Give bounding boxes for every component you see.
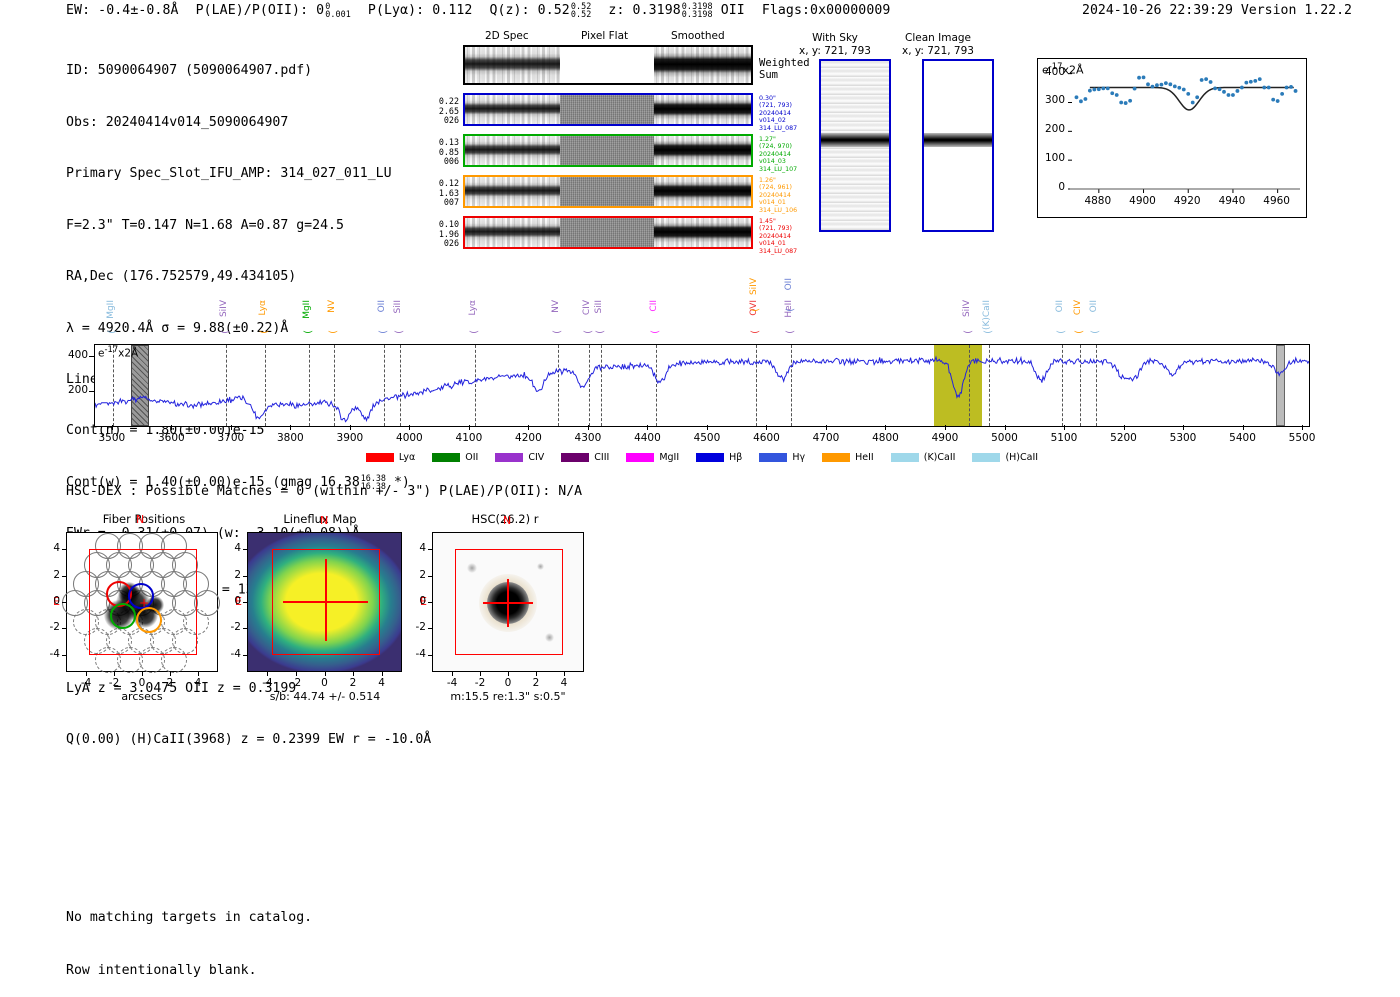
emission-line-label: Lyα bbox=[259, 300, 268, 315]
emission-line-brace: ( bbox=[328, 330, 339, 334]
panel-y-tick: 0 bbox=[217, 595, 241, 607]
panel-y-tick: 2 bbox=[402, 569, 426, 581]
panel-x-tick: 4 bbox=[368, 677, 396, 689]
fiber-left-stats: 0.130.85006 bbox=[419, 138, 459, 167]
fiber-center-cross: + bbox=[139, 596, 149, 610]
lineflux-crosshair-horizontal bbox=[283, 601, 368, 603]
fiber-strip: 0.130.850061.27"(724, 970)20240414v014_0… bbox=[463, 134, 753, 167]
info-primary-slot: Primary Spec_Slot_IFU_AMP: 314_027_011_L… bbox=[66, 165, 431, 182]
emission-line-brace: ( bbox=[785, 330, 796, 334]
fiber-smoothed bbox=[654, 95, 751, 124]
panel-x-tick: 0 bbox=[128, 677, 156, 689]
fiber-left-stats: 0.101.96026 bbox=[419, 220, 459, 249]
hsc-dex-header: HSC-DEX : Possible Matches = 0 (within +… bbox=[66, 484, 582, 499]
fiber-2dspec bbox=[465, 136, 560, 165]
spectrum-x-tick: 3900 bbox=[326, 432, 374, 444]
fiber-left-stats: 0.121.63007 bbox=[419, 179, 459, 208]
legend-label: Lyα bbox=[399, 452, 415, 463]
legend-item: OII bbox=[432, 452, 478, 463]
spectrum-y-tickmark bbox=[89, 391, 94, 392]
fiber-smoothed bbox=[654, 177, 751, 206]
panel-x-tick: 0 bbox=[494, 677, 522, 689]
panel-y-tickmark bbox=[428, 549, 432, 550]
emission-line-label: NV bbox=[552, 300, 561, 313]
fiber-strip: 0.121.630071.26"(724, 961)20240414v014_0… bbox=[463, 175, 753, 208]
panel-y-tick: 4 bbox=[402, 542, 426, 554]
legend-item: Lyα bbox=[366, 452, 415, 463]
spectrum-x-tick: 4900 bbox=[921, 432, 969, 444]
legend-swatch bbox=[495, 453, 523, 462]
info-id: ID: 5090064907 (5090064907.pdf) bbox=[66, 62, 431, 79]
legend-label: (H)CaII bbox=[1005, 452, 1038, 463]
emission-line-label: SiIV bbox=[750, 278, 759, 295]
panel-y-tick: -4 bbox=[217, 648, 241, 660]
emission-line-brace: ( bbox=[259, 330, 270, 334]
panel-y-tick: 2 bbox=[217, 569, 241, 581]
info-radec: RA,Dec (176.752579,49.434105) bbox=[66, 268, 431, 285]
fiber-strip: 0.101.960261.45"(721, 793)20240414v014_0… bbox=[463, 216, 753, 249]
panel-x-tickmark bbox=[353, 672, 354, 676]
legend-swatch bbox=[626, 453, 654, 462]
panel-y-tickmark bbox=[428, 602, 432, 603]
inset-x-tick: 4900 bbox=[1127, 195, 1159, 207]
emission-line-brace: ( bbox=[1074, 330, 1085, 334]
spectrum-x-tick: 4000 bbox=[385, 432, 433, 444]
panel-x-tick: -4 bbox=[438, 677, 466, 689]
spectrum-x-tick: 4200 bbox=[504, 432, 552, 444]
full-spectrum-chart: e-17x2Å bbox=[94, 344, 1310, 427]
panel-y-tickmark bbox=[428, 655, 432, 656]
panel-x-tick: -4 bbox=[72, 677, 100, 689]
legend-label: HeII bbox=[855, 452, 874, 463]
spectrum-x-tick: 3600 bbox=[147, 432, 195, 444]
panel-x-tick: 2 bbox=[522, 677, 550, 689]
legend-item: Hβ bbox=[696, 452, 742, 463]
panel-y-tickmark bbox=[243, 576, 247, 577]
spectrum-x-tick: 4400 bbox=[623, 432, 671, 444]
emission-line-label: MgII bbox=[107, 300, 116, 319]
legend-swatch bbox=[366, 453, 394, 462]
spectrum-x-tick: 4800 bbox=[861, 432, 909, 444]
lineflux-map-plot: N E bbox=[247, 532, 402, 672]
emission-line-label: CII bbox=[650, 300, 659, 312]
panel-y-tick: -4 bbox=[36, 648, 60, 660]
weighted-sum-label: WeightedSum bbox=[759, 57, 810, 81]
legend-item: (H)CaII bbox=[972, 452, 1038, 463]
emission-line-label: SiII bbox=[595, 300, 604, 314]
spectrum-x-tick: 4700 bbox=[802, 432, 850, 444]
fiber-pixelflat bbox=[560, 95, 655, 124]
emission-line-brace: ( bbox=[983, 330, 994, 334]
header-qz: Q(z): 0.520.520.52 bbox=[489, 3, 591, 18]
panel-y-tickmark bbox=[243, 549, 247, 550]
spectrum-x-tick: 5500 bbox=[1278, 432, 1326, 444]
emission-line-brace: ( bbox=[963, 330, 974, 334]
panel-x-tick: 4 bbox=[550, 677, 578, 689]
spectrum-x-tick: 5300 bbox=[1159, 432, 1207, 444]
fiber-2dspec bbox=[465, 177, 560, 206]
legend-label: (K)CaII bbox=[924, 452, 956, 463]
header-redshift: z: 0.31980.31980.3198 OII bbox=[608, 3, 744, 18]
spectrum-y-tick: 200 bbox=[50, 384, 88, 396]
emission-line-brace: ( bbox=[394, 330, 405, 334]
emission-line-label: SiIV bbox=[220, 300, 229, 317]
panel-y-tick: -4 bbox=[402, 648, 426, 660]
panel-y-tickmark bbox=[62, 602, 66, 603]
emission-line-brace: ( bbox=[650, 330, 661, 334]
inset-x-tick: 4880 bbox=[1082, 195, 1114, 207]
spectrum-x-tick: 5000 bbox=[981, 432, 1029, 444]
fiber-positions-caption: arcsecs bbox=[42, 690, 242, 703]
hsc-image-caption: m:15.5 re:1.3" s:0.5" bbox=[408, 690, 608, 703]
panel-x-tickmark bbox=[198, 672, 199, 676]
emission-line-label: OII bbox=[1056, 300, 1065, 312]
inset-y-tick: 300 bbox=[1027, 94, 1065, 106]
panel-x-tickmark bbox=[296, 672, 297, 676]
fiber-meta: 1.26"(724, 961)20240414v014_01314_LU_106 bbox=[759, 177, 797, 214]
emission-line-brace: ( bbox=[552, 330, 563, 334]
emission-line-brace: ( bbox=[107, 330, 118, 334]
panel-x-tickmark bbox=[480, 672, 481, 676]
inset-y-tick: 400 bbox=[1027, 66, 1065, 78]
emission-line-label: OII bbox=[785, 278, 794, 290]
inset-y-tick: 100 bbox=[1027, 152, 1065, 164]
weighted-sum-smoothed bbox=[654, 47, 751, 83]
lineflux-north-label: N bbox=[320, 514, 328, 527]
weighted-sum-2dspec bbox=[465, 47, 560, 83]
legend-swatch bbox=[891, 453, 919, 462]
panel-x-tickmark bbox=[142, 672, 143, 676]
panel-y-tickmark bbox=[243, 602, 247, 603]
fiber-pixelflat bbox=[560, 177, 655, 206]
clean-image-cutout bbox=[922, 59, 994, 232]
header-plya: P(Lyα): 0.112 bbox=[368, 3, 473, 18]
inset-plot-svg bbox=[1038, 59, 1306, 217]
inset-x-tick: 4960 bbox=[1261, 195, 1293, 207]
fiber-smoothed bbox=[654, 218, 751, 247]
panel-x-tickmark bbox=[325, 672, 326, 676]
emission-line-label: Lyα bbox=[469, 300, 478, 315]
legend-item: CIII bbox=[561, 452, 609, 463]
fiber-pixelflat bbox=[560, 218, 655, 247]
panel-x-tickmark bbox=[536, 672, 537, 676]
panel-x-tickmark bbox=[267, 672, 268, 676]
panel-y-tick: 4 bbox=[36, 542, 60, 554]
panel-x-tick: 4 bbox=[184, 677, 212, 689]
inset-x-tick: 4940 bbox=[1216, 195, 1248, 207]
clean-image-title: Clean Image x, y: 721, 793 bbox=[878, 32, 998, 57]
panel-y-tickmark bbox=[243, 628, 247, 629]
panel-y-tick: 0 bbox=[36, 595, 60, 607]
emission-line-brace: ( bbox=[583, 330, 594, 334]
panel-x-tickmark bbox=[564, 672, 565, 676]
weighted-sum-pixelflat bbox=[560, 47, 655, 83]
spectrum-x-tick: 5200 bbox=[1100, 432, 1148, 444]
hsc-north-label: N bbox=[503, 514, 511, 527]
emission-line-brace: ( bbox=[750, 308, 761, 312]
legend-item: MgII bbox=[626, 452, 679, 463]
spectrum-x-tick: 4100 bbox=[445, 432, 493, 444]
emission-line-brace: ( bbox=[750, 330, 761, 334]
info-obs: Obs: 20240414v014_5090064907 bbox=[66, 114, 431, 131]
info-seeing: F=2.3" T=0.147 N=1.68 A=0.87 g=24.5 bbox=[66, 217, 431, 234]
emission-line-label: MgII bbox=[303, 300, 312, 319]
emission-line-brace: ( bbox=[469, 330, 480, 334]
header-plae: P(LAE)/P(OII): 000.001 bbox=[196, 3, 351, 18]
panel-y-tickmark bbox=[62, 549, 66, 550]
fiber-smoothed bbox=[654, 136, 751, 165]
legend-item: Hγ bbox=[759, 452, 805, 463]
panel-y-tickmark bbox=[428, 576, 432, 577]
spec2d-column-titles: 2D Spec Pixel Flat Smoothed bbox=[463, 30, 753, 45]
header-ew: EW: -0.4±-0.8Å bbox=[66, 3, 179, 18]
panel-x-tick: 2 bbox=[156, 677, 184, 689]
emission-line-brace: ( bbox=[595, 330, 606, 334]
legend-item: (K)CaII bbox=[891, 452, 956, 463]
panel-x-tickmark bbox=[452, 672, 453, 676]
inset-y-tick: 200 bbox=[1027, 123, 1065, 135]
fiber-left-stats: 0.222.65026 bbox=[419, 97, 459, 126]
fiber-pixelflat bbox=[560, 136, 655, 165]
legend-swatch bbox=[972, 453, 1000, 462]
spectrum-x-tick: 5100 bbox=[1040, 432, 1088, 444]
lineflux-map-caption: s/b: 44.74 +/- 0.514 bbox=[225, 690, 425, 703]
panel-y-tick: -2 bbox=[36, 621, 60, 633]
legend-item: HeII bbox=[822, 452, 874, 463]
inset-x-tick: 4920 bbox=[1171, 195, 1203, 207]
panel-y-tickmark bbox=[62, 628, 66, 629]
emission-line-label: SiIV bbox=[963, 300, 972, 317]
legend-label: OII bbox=[465, 452, 478, 463]
weighted-sum-strip: WeightedSum bbox=[463, 45, 753, 85]
emission-line-brace: ( bbox=[378, 330, 389, 334]
spec2d-title-smoothed: Smoothed bbox=[671, 30, 725, 42]
spectrum-x-tick: 5400 bbox=[1219, 432, 1267, 444]
spec2d-title-pixelflat: Pixel Flat bbox=[581, 30, 628, 42]
panel-y-tickmark bbox=[243, 655, 247, 656]
panel-x-tick: -2 bbox=[466, 677, 494, 689]
clean-image-trace bbox=[924, 133, 992, 147]
emission-line-label: NV bbox=[328, 300, 337, 313]
with-sky-cutout bbox=[819, 59, 891, 232]
hsc-crosshair-horizontal bbox=[483, 602, 533, 604]
spectrum-y-tickmark bbox=[89, 356, 94, 357]
legend-swatch bbox=[696, 453, 724, 462]
emission-line-label: SiII bbox=[394, 300, 403, 314]
emission-line-label: OII bbox=[1090, 300, 1099, 312]
inset-y-tick: 0 bbox=[1027, 181, 1065, 193]
spectrum-flux-annotation: e-17x2Å bbox=[98, 344, 138, 360]
info-lambda: λ = 4920.4Å σ = 9.88(±0.22)Å bbox=[66, 320, 431, 337]
panel-x-tick: 0 bbox=[311, 677, 339, 689]
legend-label: MgII bbox=[659, 452, 679, 463]
legend-label: CIV bbox=[528, 452, 544, 463]
emission-line-label: CIV bbox=[1074, 300, 1083, 315]
header-flags: Flags:0x00000009 bbox=[762, 3, 891, 18]
footer-line-2: Row intentionally blank. bbox=[66, 962, 312, 980]
legend-swatch bbox=[432, 453, 460, 462]
fiber-2dspec bbox=[465, 95, 560, 124]
panel-x-tickmark bbox=[382, 672, 383, 676]
legend-swatch bbox=[561, 453, 589, 462]
panel-y-tick: 0 bbox=[402, 595, 426, 607]
legend-label: Hβ bbox=[729, 452, 742, 463]
emission-line-brace: ( bbox=[303, 330, 314, 334]
panel-y-tick: 4 bbox=[217, 542, 241, 554]
spectrum-x-tick: 3500 bbox=[88, 432, 136, 444]
fiber-north-label: N bbox=[136, 513, 144, 526]
panel-x-tickmark bbox=[508, 672, 509, 676]
panel-y-tick: -2 bbox=[217, 621, 241, 633]
panel-y-tickmark bbox=[428, 628, 432, 629]
legend-label: CIII bbox=[594, 452, 609, 463]
panel-x-tickmark bbox=[170, 672, 171, 676]
fiber-meta: 0.30"(721, 793)20240414v014_02314_LU_087 bbox=[759, 95, 797, 132]
panel-x-tickmark bbox=[86, 672, 87, 676]
two-d-spectra-panel: 2D Spec Pixel Flat Smoothed WeightedSum … bbox=[463, 30, 753, 249]
footer-note: No matching targets in catalog. Row inte… bbox=[66, 874, 312, 997]
panel-x-tick: -2 bbox=[282, 677, 310, 689]
spectrum-y-tick: 400 bbox=[50, 349, 88, 361]
with-sky-trace bbox=[821, 133, 889, 147]
panel-x-tick: 2 bbox=[339, 677, 367, 689]
panel-y-tick: 2 bbox=[36, 569, 60, 581]
emission-line-brace: ( bbox=[785, 308, 796, 312]
fiber-positions-plot: N E + bbox=[66, 532, 218, 672]
panel-x-tick: -2 bbox=[100, 677, 128, 689]
legend-item: CIV bbox=[495, 452, 544, 463]
spectrum-x-tick: 3700 bbox=[207, 432, 255, 444]
spectrum-x-tick: 3800 bbox=[266, 432, 314, 444]
panel-y-tick: -2 bbox=[402, 621, 426, 633]
panel-x-tickmark bbox=[114, 672, 115, 676]
lineflux-crosshair-vertical bbox=[325, 559, 327, 641]
line-fit-inset-chart: e-17x2Å bbox=[1037, 58, 1307, 218]
fiber-meta: 1.45"(721, 793)20240414v014_01314_LU_087 bbox=[759, 218, 797, 255]
timestamp-version: 2024-10-26 22:39:29 Version 1.22.2 bbox=[1082, 3, 1352, 18]
spec2d-title-2dspec: 2D Spec bbox=[485, 30, 529, 42]
emission-line-brace: ( bbox=[1056, 330, 1067, 334]
fiber-meta: 1.27"(724, 970)20240414v014_03314_LU_107 bbox=[759, 136, 797, 173]
emission-line-label: CIV bbox=[583, 300, 592, 315]
emission-line-brace: ( bbox=[220, 330, 231, 334]
fiber-2dspec bbox=[465, 218, 560, 247]
footer-line-1: No matching targets in catalog. bbox=[66, 909, 312, 927]
fiber-strip: 0.222.650260.30"(721, 793)20240414v014_0… bbox=[463, 93, 753, 126]
emission-line-label: OII bbox=[378, 300, 387, 312]
hsc-image-plot: N E bbox=[432, 532, 584, 672]
with-sky-title: With Sky x, y: 721, 793 bbox=[775, 32, 895, 57]
emission-line-brace: ( bbox=[1090, 330, 1101, 334]
spectrum-x-tick: 4500 bbox=[683, 432, 731, 444]
spectrum-x-tick: 4300 bbox=[564, 432, 612, 444]
spectrum-x-tick: 4600 bbox=[742, 432, 790, 444]
fiber-strips-container: 0.222.650260.30"(721, 793)20240414v014_0… bbox=[463, 93, 753, 249]
panel-y-tickmark bbox=[62, 655, 66, 656]
legend-swatch bbox=[822, 453, 850, 462]
legend-label: Hγ bbox=[792, 452, 805, 463]
info-qline: Q(0.00) (H)CaII(3968) z = 0.2399 EW r = … bbox=[66, 731, 431, 748]
spectrum-trace-svg bbox=[95, 345, 1309, 426]
spectrum-legend: LyαOIICIVCIIIMgIIHβHγHeII(K)CaII(H)CaII bbox=[94, 452, 1310, 463]
panel-y-tickmark bbox=[62, 576, 66, 577]
legend-swatch bbox=[759, 453, 787, 462]
panel-x-tick: -4 bbox=[253, 677, 281, 689]
emission-line-label: (K)CaII bbox=[983, 300, 992, 330]
